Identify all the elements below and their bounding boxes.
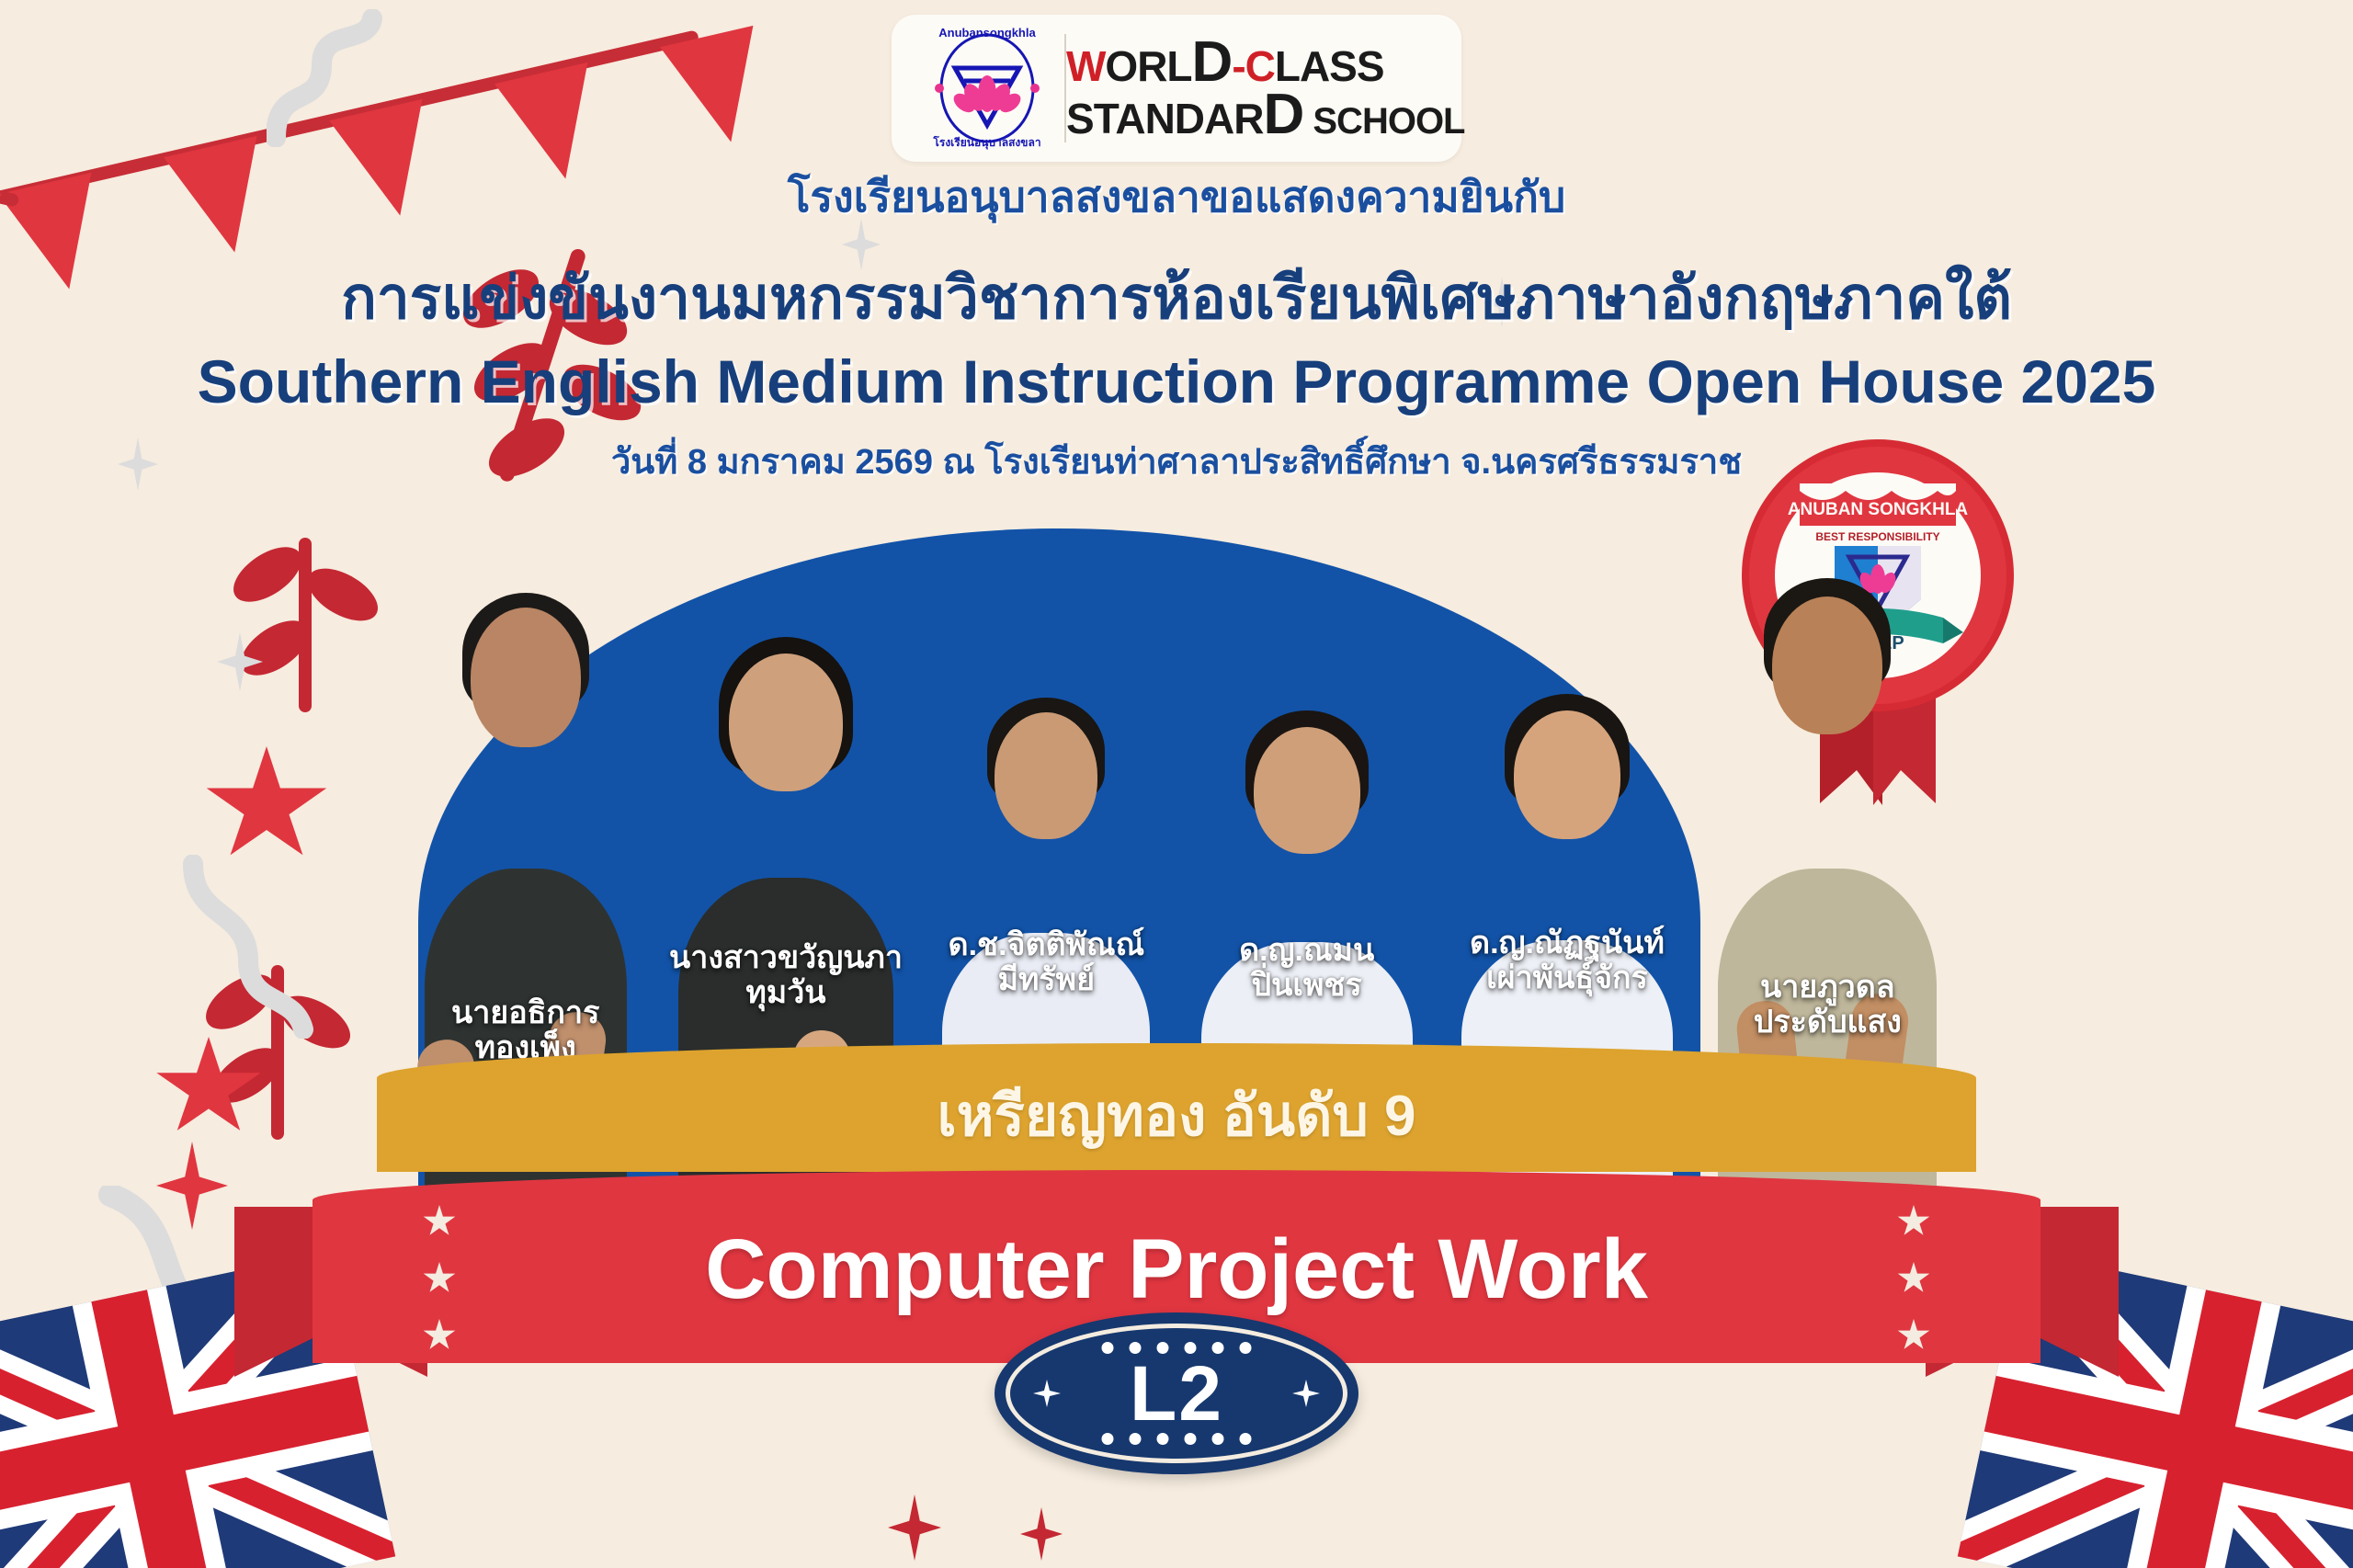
- squiggle-icon: [267, 9, 423, 147]
- star-icon: [154, 1037, 263, 1140]
- svg-text:Anubansongkhla: Anubansongkhla: [938, 26, 1036, 40]
- person-head: [471, 608, 581, 747]
- event-title-thai: การแข่งขันงานมหกรรมวิชาการห้องเรียนพิเศษ…: [0, 251, 2353, 345]
- squiggle-icon: [175, 855, 331, 1039]
- star-icon: [204, 746, 329, 866]
- person-head: [1772, 597, 1882, 734]
- person-name-line1: นายภูวดล: [1760, 970, 1895, 1005]
- person-name-line1: นางสาวขวัญนภา: [669, 940, 903, 975]
- person-name-label: ด.ช.จิตติพัณณ์มีทรัพย์: [917, 927, 1175, 997]
- diamond-icon: [1020, 1507, 1063, 1561]
- person-name-line2: มีทรัพย์: [998, 962, 1095, 997]
- school-seal-icon: Anubansongkhla โรงเรียนอนุบาลสงขลา: [910, 24, 1064, 153]
- star-icon: [423, 1205, 456, 1238]
- congratulations-line: โรงเรียนอนุบาลสงขลาขอแสดงความยินกับ: [0, 164, 2353, 231]
- person-name-line1: ด.ญ.ณมน: [1239, 933, 1374, 968]
- ribbon-stars-right: [1897, 1205, 1930, 1352]
- person-name-line1: ด.ช.จิตติพัณณ์: [948, 927, 1144, 962]
- person-name-label: ด.ญ.ณมนปิ่นเพชร: [1178, 933, 1436, 1003]
- logo-bar: Anubansongkhla โรงเรียนอนุบาลสงขลา WORL: [892, 15, 1461, 162]
- person-name-label: ด.ญ.ณัฏฐนันท์เผ่าพันธุ์จักร: [1438, 926, 1696, 995]
- medal-rank-text: เหรียญทอง อันดับ 9: [937, 1071, 1415, 1161]
- world-class-standard-school-logo: WORLD-CLASS STANDARD SCHOOL: [1066, 24, 1443, 153]
- svg-text:โรงเรียนอนุบาลสงขลา: โรงเรียนอนุบาลสงขลา: [932, 135, 1040, 150]
- star-icon: [423, 1319, 456, 1352]
- person-head: [1254, 727, 1360, 854]
- competition-name: Computer Project Work: [705, 1221, 1648, 1318]
- sparkle-icon: [217, 632, 263, 691]
- star-icon: [423, 1262, 456, 1295]
- event-title-english: Southern English Medium Instruction Prog…: [0, 347, 2353, 416]
- person-name-line2: ประดับแสง: [1754, 1005, 1902, 1040]
- person-name-line1: ด.ญ.ณัฏฐนันท์: [1470, 926, 1665, 960]
- poster-canvas: Anubansongkhla โรงเรียนอนุบาลสงขลา WORL: [0, 0, 2353, 1568]
- person-name-line2: ปิ่นเพชร: [1252, 968, 1362, 1003]
- person-name-label: นางสาวขวัญนภาทุมวัน: [657, 940, 915, 1010]
- laurel-branch-icon: [170, 937, 391, 1158]
- star-icon: [1897, 1262, 1930, 1295]
- laurel-branch-icon: [198, 510, 418, 731]
- person-name-line2: เผ่าพันธุ์จักร: [1486, 960, 1648, 995]
- medal-rank-band: เหรียญทอง อันดับ 9: [377, 1043, 1976, 1172]
- person-name-line2: ทุมวัน: [745, 975, 825, 1010]
- person-name-line1: นายอธิการ: [451, 995, 599, 1030]
- rosette-top-banner-text: ANUBAN SONGKHLA: [1788, 500, 1969, 519]
- rosette-sub-text: BEST RESPONSIBILITY: [1815, 530, 1939, 543]
- person-head: [729, 653, 843, 791]
- level-badge-text: L2: [1130, 1349, 1223, 1438]
- bunting-pennant: [660, 26, 778, 153]
- ribbon-stars-left: [423, 1205, 456, 1352]
- star-icon: [1897, 1205, 1930, 1238]
- person-name-label: นายภูวดลประดับแสง: [1699, 970, 1956, 1040]
- person-head: [1514, 710, 1620, 839]
- wcs-wordmark: WORLD-CLASS STANDARD SCHOOL: [1066, 36, 1465, 141]
- star-icon: [1897, 1319, 1930, 1352]
- person-head: [995, 712, 1097, 839]
- diamond-icon: [888, 1494, 941, 1561]
- level-badge: L2: [995, 1312, 1358, 1474]
